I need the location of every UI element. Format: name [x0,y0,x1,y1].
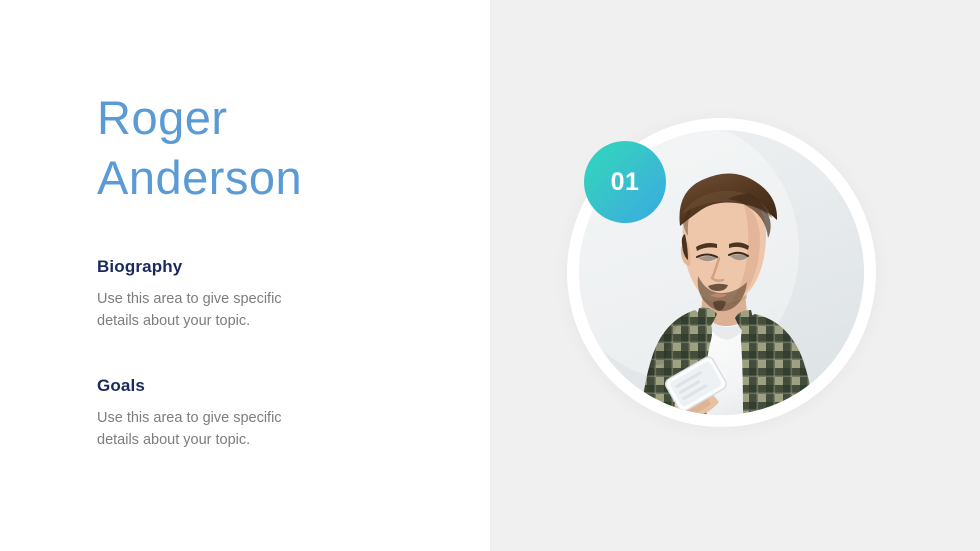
left-content: Roger Anderson Biography Use this area t… [97,88,427,451]
section-body-biography: Use this area to give specific details a… [97,288,337,332]
section-body-goals: Use this area to give specific details a… [97,407,337,451]
section-heading-biography: Biography [97,257,427,277]
step-number-badge: 01 [584,141,666,223]
section-biography: Biography Use this area to give specific… [97,257,427,332]
step-number-label: 01 [611,170,640,195]
section-goals: Goals Use this area to give specific det… [97,376,427,451]
slide-canvas: Roger Anderson Biography Use this area t… [0,0,980,551]
section-heading-goals: Goals [97,376,427,396]
page-title: Roger Anderson [97,88,427,208]
